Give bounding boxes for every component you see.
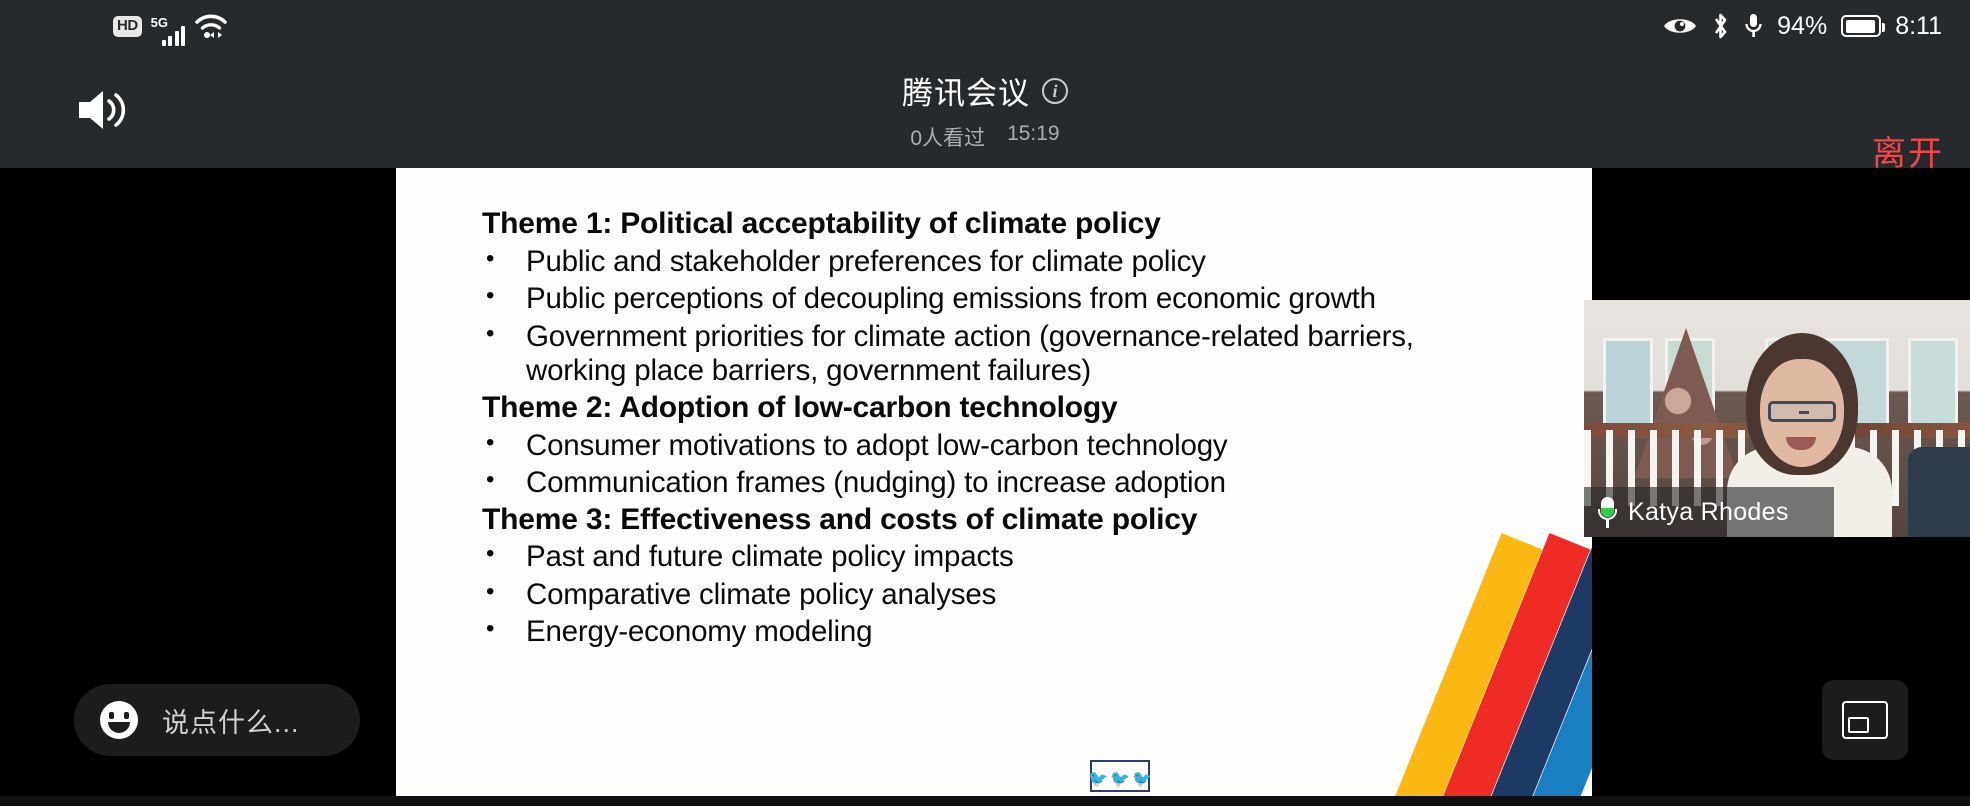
smiley-icon[interactable] [100, 701, 138, 739]
shared-slide[interactable]: Theme 1: Political acceptability of clim… [396, 168, 1592, 798]
status-bar: HD 5G 94% 8:11 [0, 0, 1970, 52]
bluetooth-icon [1711, 12, 1730, 40]
slide-bullet-text: Communication frames (nudging) to increa… [526, 466, 1226, 501]
meeting-elapsed-time: 15:19 [1007, 122, 1060, 152]
status-bar-right: 94% 8:11 [1663, 12, 1942, 41]
meeting-header-center: 腾讯会议 i 0人看过 15:19 [685, 68, 1285, 152]
bullet-marker: • [482, 282, 526, 317]
meeting-title: 腾讯会议 [902, 68, 1030, 113]
wifi-icon [194, 11, 228, 41]
slide-bullet: •Comparative climate policy analyses [482, 578, 1592, 613]
slide-bullet-text: Public and stakeholder preferences for c… [526, 245, 1206, 280]
eye-icon [1663, 15, 1697, 37]
slide-bullet: •Past and future climate policy impacts [482, 540, 1592, 575]
network-type-label: 5G [151, 16, 168, 29]
slide-content: Theme 1: Political acceptability of clim… [482, 205, 1592, 650]
slide-bullet-text: Public perceptions of decoupling emissio… [526, 282, 1376, 317]
slide-bullet-text: Government priorities for climate action… [526, 320, 1461, 389]
battery-icon [1841, 15, 1881, 37]
speaker-icon[interactable] [72, 80, 136, 140]
bullet-marker: • [482, 466, 526, 501]
layout-switch-button[interactable] [1822, 680, 1908, 760]
signal-bars-icon: 5G [151, 16, 186, 46]
slide-bullet: •Public perceptions of decoupling emissi… [482, 282, 1592, 317]
slide-bullet-text: Consumer motivations to adopt low-carbon… [526, 429, 1227, 464]
battery-percent-label: 94% [1777, 12, 1827, 41]
bullet-marker: • [482, 540, 526, 575]
slide-bullet: •Energy-economy modeling [482, 615, 1592, 650]
slide-bullet-text: Comparative climate policy analyses [526, 578, 996, 613]
chat-placeholder-label: 说点什么... [162, 701, 300, 740]
bottom-edge-bar [0, 796, 1970, 806]
slide-bullet: •Government priorities for climate actio… [482, 320, 1592, 389]
layout-switch-icon [1842, 701, 1888, 739]
participant-name-label: Katya Rhodes [1628, 498, 1789, 527]
microphone-icon [1744, 12, 1763, 40]
university-crest-logo: 🐦🐦🐦 [1090, 760, 1150, 792]
bullet-marker: • [482, 615, 526, 650]
slide-bullet-text: Past and future climate policy impacts [526, 540, 1014, 575]
participant-video-tile[interactable]: Katya Rhodes [1584, 300, 1970, 537]
status-clock: 8:11 [1895, 12, 1942, 41]
slide-heading: Theme 3: Effectiveness and costs of clim… [482, 503, 1592, 538]
slide-bullet: •Public and stakeholder preferences for … [482, 245, 1592, 280]
meeting-stage: Theme 1: Political acceptability of clim… [0, 168, 1970, 806]
slide-heading: Theme 2: Adoption of low-carbon technolo… [482, 391, 1592, 426]
info-icon[interactable]: i [1042, 78, 1068, 104]
slide-bullet-text: Energy-economy modeling [526, 615, 872, 650]
status-bar-left: HD 5G [113, 6, 228, 46]
bullet-marker: • [482, 320, 526, 389]
hd-badge: HD [113, 16, 142, 37]
meeting-subtitle: 0人看过 15:19 [685, 122, 1285, 152]
participant-face [1746, 333, 1858, 475]
participant-name-strip: Katya Rhodes [1584, 487, 1834, 537]
bullet-marker: • [482, 429, 526, 464]
bullet-marker: • [482, 578, 526, 613]
microphone-on-icon [1598, 497, 1617, 528]
viewer-count-label: 0人看过 [910, 122, 985, 152]
slide-heading: Theme 1: Political acceptability of clim… [482, 207, 1592, 242]
slide-bullet: •Consumer motivations to adopt low-carbo… [482, 429, 1592, 464]
chat-input-button[interactable]: 说点什么... [74, 684, 360, 756]
slide-bullet: •Communication frames (nudging) to incre… [482, 466, 1592, 501]
bullet-marker: • [482, 245, 526, 280]
meeting-header: 腾讯会议 i 0人看过 15:19 离开 [0, 52, 1970, 168]
